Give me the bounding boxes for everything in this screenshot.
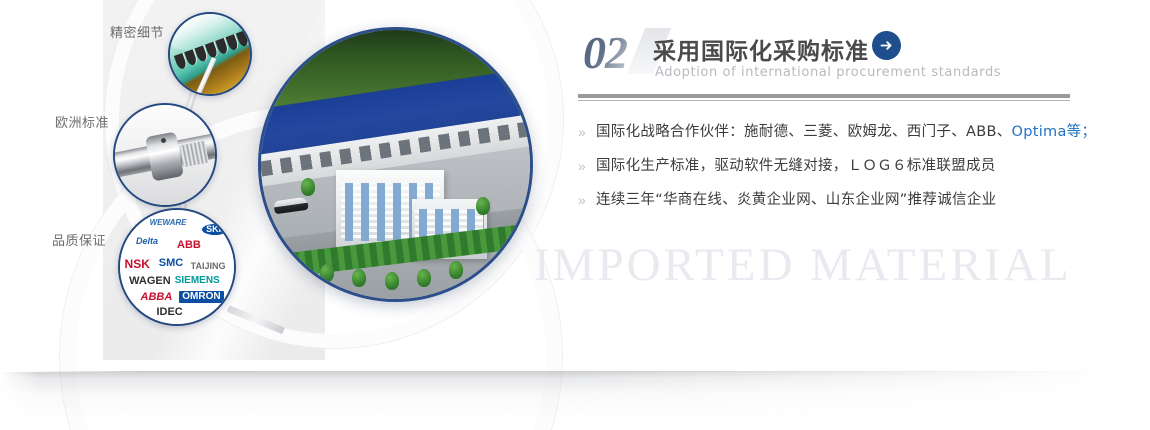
divider-thin	[578, 100, 1070, 101]
brand-logo: IDEC	[156, 307, 182, 318]
brand-logo: WEWARE	[150, 219, 187, 227]
factory-aerial-photo	[258, 27, 533, 302]
label-precision-detail: 精密细节	[110, 22, 164, 41]
brand-logo: TAIJING	[191, 262, 226, 271]
brand-logo: ABB	[177, 240, 201, 251]
feature-text: 连续三年“华商在线、炎黄企业网、山东企业网”推荐诚信企业	[596, 192, 996, 208]
brand-logo: SIEMENS	[175, 276, 220, 286]
feature-text: 国际化生产标准，驱动软件无缝对接，ＬＯＧ６标准联盟成员	[596, 158, 996, 174]
section-number: 02	[583, 26, 627, 79]
page-subtitle: Adoption of international procurement st…	[655, 65, 1001, 80]
feature-text-highlight: Optima等；	[1012, 124, 1097, 140]
brand-logo: SMC	[159, 258, 183, 269]
feature-list-item-label: 国际化战略合作伙伴：施耐德、三菱、欧姆龙、西门子、ABB、Optima等；	[596, 122, 1096, 142]
feature-text: 国际化战略合作伙伴：施耐德、三菱、欧姆龙、西门子、ABB、	[596, 124, 1012, 140]
brand-logo: ABBA	[141, 292, 173, 303]
chevron-bullet-icon: »	[578, 156, 596, 176]
feature-list: »国际化战略合作伙伴：施耐德、三菱、欧姆龙、西门子、ABB、Optima等；»国…	[578, 122, 1108, 224]
feature-list-item: »连续三年“华商在线、炎黄企业网、山东企业网”推荐诚信企业	[578, 190, 1108, 210]
brand-logo: NSK	[125, 258, 150, 270]
brand-logo: SKF	[202, 224, 228, 235]
label-european-standard: 欧洲标准	[55, 112, 109, 131]
feature-list-item-label: 连续三年“华商在线、炎黄企业网、山东企业网”推荐诚信企业	[596, 190, 996, 210]
feature-list-item-label: 国际化生产标准，驱动软件无缝对接，ＬＯＧ６标准联盟成员	[596, 156, 996, 176]
label-quality-assurance: 品质保证	[52, 230, 106, 249]
page-title: 采用国际化采购标准	[653, 32, 869, 66]
brand-logo: WAGEN	[129, 276, 171, 287]
brand-logo: OMRON	[179, 291, 223, 303]
brand-logos-photo: WEWARESKFABBDeltaNSKSMCTAIJINGWAGENSIEME…	[118, 208, 236, 326]
feature-list-item: »国际化战略合作伙伴：施耐德、三菱、欧姆龙、西门子、ABB、Optima等；	[578, 122, 1108, 142]
feature-list-item: »国际化生产标准，驱动软件无缝对接，ＬＯＧ６标准联盟成员	[578, 156, 1108, 176]
ball-screw-photo	[113, 103, 217, 207]
promo-banner: WEWARESKFABBDeltaNSKSMCTAIJINGWAGENSIEME…	[0, 0, 1150, 430]
floor-reflection	[0, 372, 1150, 430]
brand-logo: Delta	[136, 237, 158, 246]
chevron-bullet-icon: »	[578, 190, 596, 210]
chevron-bullet-icon: »	[578, 122, 596, 142]
arrow-right-icon[interactable]	[872, 31, 901, 60]
divider-thick	[578, 94, 1070, 98]
saw-blade-detail-photo	[168, 12, 252, 96]
watermark-text: IMPORTED MATERIAL	[534, 238, 1072, 292]
